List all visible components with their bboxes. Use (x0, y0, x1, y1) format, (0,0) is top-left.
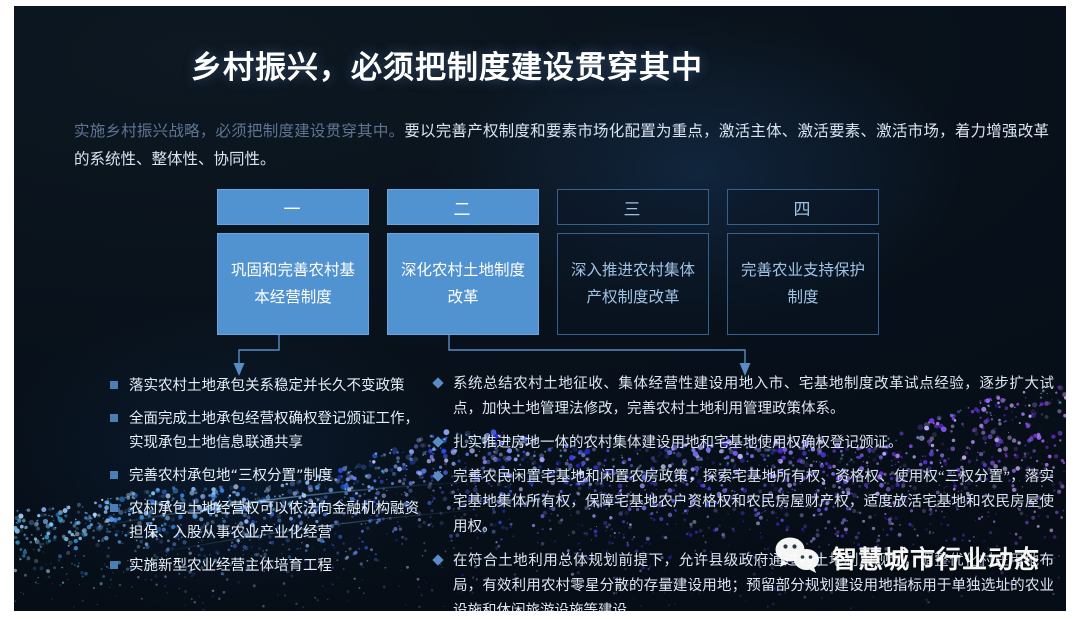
watermark: 智慧城市行业动态 (774, 536, 1040, 579)
list-item-text: 完善农民闲置宅基地和闲置农房政策，探索宅基地所有权、资格权、使用权“三权分置”，… (453, 465, 1054, 540)
card-row: 一 巩固和完善农村基本经营制度 二 深化农村土地制度改革 三 深入推进农村集体产… (217, 189, 877, 335)
left-bullet-list: 落实农村土地承包关系稳定并长久不变政策 全面完成土地承包经营权确权登记颁证工作，… (110, 374, 420, 587)
diamond-bullet-icon (432, 554, 443, 565)
list-item-text: 农村承包土地经营权可以依法向金融机构融资担保、入股从事农业产业化经营 (129, 497, 420, 545)
list-item: 实施新型农业经营主体培育工程 (110, 554, 420, 578)
slide-canvas: 乡村振兴，必须把制度建设贯穿其中 实施乡村振兴战略，必须把制度建设贯穿其中。要以… (14, 6, 1066, 611)
card-2[interactable]: 二 深化农村土地制度改革 (387, 189, 539, 335)
watermark-label: 智慧城市行业动态 (832, 540, 1040, 576)
card-1-number: 一 (217, 189, 369, 225)
card-4[interactable]: 四 完善农业支持保护制度 (727, 189, 879, 335)
square-bullet-icon (110, 504, 118, 512)
card-4-number: 四 (727, 189, 879, 225)
square-bullet-icon (110, 381, 118, 389)
list-item: 完善农民闲置宅基地和闲置农房政策，探索宅基地所有权、资格权、使用权“三权分置”，… (434, 465, 1054, 540)
list-item-text: 完善农村承包地“三权分置”制度 (129, 464, 333, 488)
list-item: 农村承包土地经营权可以依法向金融机构融资担保、入股从事农业产业化经营 (110, 497, 420, 545)
diamond-bullet-icon (432, 377, 443, 388)
slide: 乡村振兴，必须把制度建设贯穿其中 实施乡村振兴战略，必须把制度建设贯穿其中。要以… (0, 0, 1080, 619)
card-4-title: 完善农业支持保护制度 (727, 233, 879, 335)
list-item-text: 落实农村土地承包关系稳定并长久不变政策 (129, 374, 405, 398)
lead-paragraph: 实施乡村振兴战略，必须把制度建设贯穿其中。要以完善产权制度和要素市场化配置为重点… (74, 118, 1049, 174)
square-bullet-icon (110, 471, 118, 479)
list-item: 扎实推进房地一体的农村集体建设用地和宅基地使用权确权登记颁证。 (434, 431, 1054, 456)
diamond-bullet-icon (432, 470, 443, 481)
list-item-text: 全面完成土地承包经营权确权登记颁证工作，实现承包土地信息联通共享 (129, 407, 420, 455)
card-3-title: 深入推进农村集体产权制度改革 (557, 233, 709, 335)
list-item-text: 系统总结农村土地征收、集体经营性建设用地入市、宅基地制度改革试点经验，逐步扩大试… (453, 372, 1054, 422)
card-3-number: 三 (557, 189, 709, 225)
square-bullet-icon (110, 414, 118, 422)
diamond-bullet-icon (432, 436, 443, 447)
card-3[interactable]: 三 深入推进农村集体产权制度改革 (557, 189, 709, 335)
list-item: 系统总结农村土地征收、集体经营性建设用地入市、宅基地制度改革试点经验，逐步扩大试… (434, 372, 1054, 422)
list-item: 完善农村承包地“三权分置”制度 (110, 464, 420, 488)
wechat-icon (774, 536, 820, 579)
lead-paragraph-highlight: 实施乡村振兴战略，必须把制度建设贯穿其中。 (74, 123, 404, 140)
list-item-text: 扎实推进房地一体的农村集体建设用地和宅基地使用权确权登记颁证。 (453, 431, 903, 456)
card-1-title: 巩固和完善农村基本经营制度 (217, 233, 369, 335)
card-1[interactable]: 一 巩固和完善农村基本经营制度 (217, 189, 369, 335)
list-item: 落实农村土地承包关系稳定并长久不变政策 (110, 374, 420, 398)
card-2-number: 二 (387, 189, 539, 225)
card-2-title: 深化农村土地制度改革 (387, 233, 539, 335)
list-item-text: 实施新型农业经营主体培育工程 (129, 554, 332, 578)
page-title: 乡村振兴，必须把制度建设贯穿其中 (191, 42, 703, 87)
square-bullet-icon (110, 561, 118, 569)
list-item: 全面完成土地承包经营权确权登记颁证工作，实现承包土地信息联通共享 (110, 407, 420, 455)
